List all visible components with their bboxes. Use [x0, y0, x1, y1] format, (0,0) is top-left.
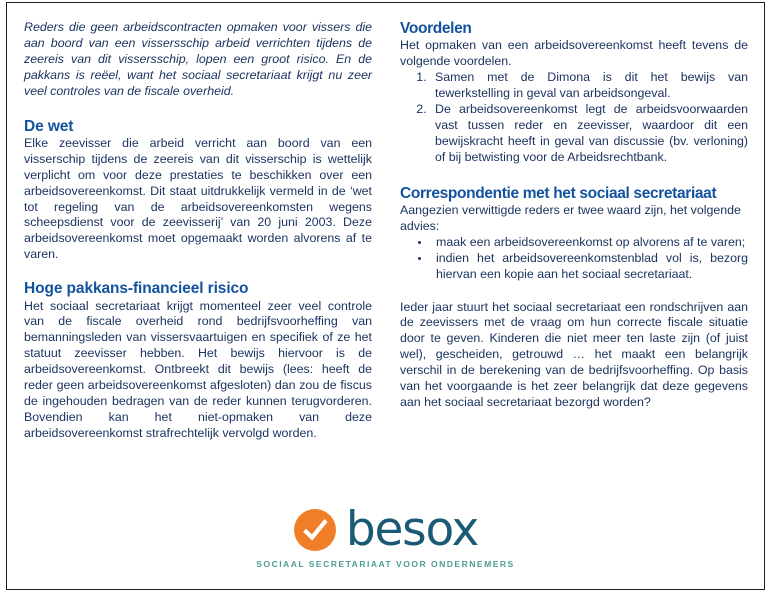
list-item: De arbeidsovereenkomst legt de arbeidsvo…: [430, 102, 748, 166]
paragraph-de-wet: Elke zeevisser die arbeid verricht aan b…: [24, 136, 372, 263]
section-spacer: [400, 283, 748, 300]
heading-correspondentie: Correspondentie met het sociaal secretar…: [400, 185, 748, 202]
heading-de-wet: De wet: [24, 118, 372, 135]
paragraph-hoge-pakkans: Het sociaal secretariaat krijgt momentee…: [24, 299, 372, 442]
correspondentie-bulleted-list: maak een arbeidsovereenkomst op alvorens…: [400, 235, 748, 283]
heading-voordelen: Voordelen: [400, 20, 748, 37]
section-spacer: [400, 166, 748, 185]
intro-paragraph: Reders die geen arbeidscontracten opmake…: [24, 20, 372, 100]
logo-row: besox: [293, 508, 478, 552]
logo-wordmark: besox: [346, 508, 478, 552]
paragraph-voordelen: Het opmaken van een arbeidsovereenkomst …: [400, 38, 748, 70]
list-item: indien het arbeidsovereenkomstenblad vol…: [431, 251, 748, 283]
list-item: maak een arbeidsovereenkomst op alvorens…: [431, 235, 748, 251]
paragraph-closing: Ieder jaar stuurt het sociaal secretaria…: [400, 300, 748, 411]
besox-logo: besox SOCIAAL SECRETARIAAT VOOR ONDERNEM…: [0, 508, 771, 569]
logo-tagline: SOCIAAL SECRETARIAAT VOOR ONDERNEMERS: [256, 559, 514, 569]
left-column: Reders die geen arbeidscontracten opmake…: [24, 20, 372, 442]
check-circle-icon: [293, 508, 337, 552]
document-page: Reders die geen arbeidscontracten opmake…: [0, 0, 771, 597]
heading-hoge-pakkans: Hoge pakkans-financieel risico: [24, 280, 372, 297]
section-spacer: [24, 263, 372, 280]
right-column: Voordelen Het opmaken van een arbeidsove…: [400, 20, 748, 411]
paragraph-correspondentie: Aangezien verwittigde reders er twee waa…: [400, 203, 748, 235]
list-item: Samen met de Dimona is dit het bewijs va…: [430, 70, 748, 102]
voordelen-numbered-list: Samen met de Dimona is dit het bewijs va…: [400, 70, 748, 165]
